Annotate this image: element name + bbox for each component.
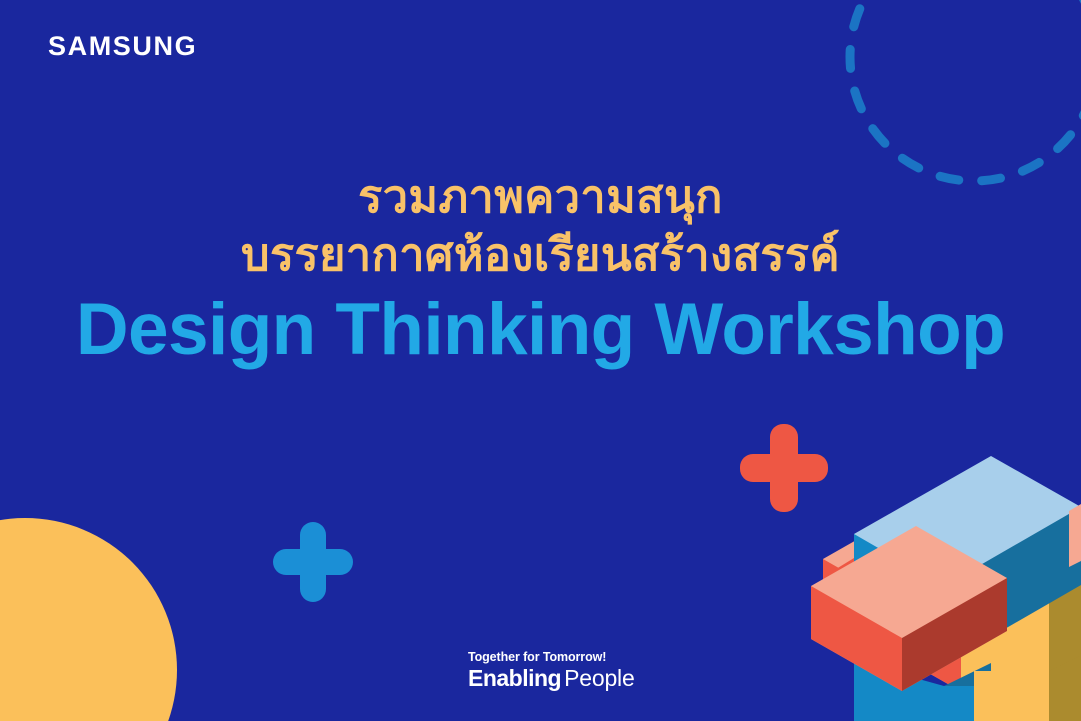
dashed-circle-decoration xyxy=(845,0,1081,186)
headline-group: รวมภาพความสนุก บรรยากาศห้องเรียนสร้างสรร… xyxy=(0,168,1081,369)
block-red-helper-2 xyxy=(823,524,969,623)
poster-canvas: SAMSUNG รวมภาพความสนุก บรรยากาศห้องเรียน… xyxy=(0,0,1081,721)
isometric-blocks-decoration xyxy=(811,431,1081,721)
block-red-front-left-face xyxy=(811,586,902,691)
tagline-together-for-tomorrow: Together for Tomorrow! xyxy=(468,650,635,664)
block-yellow-foot-left-face xyxy=(974,671,1049,721)
block-blue-foot-face xyxy=(931,686,974,721)
block-red-right-face xyxy=(969,589,1061,696)
tagline-enabling-word: Enabling xyxy=(468,665,561,691)
plus-red-vertical-bar xyxy=(770,424,798,512)
block-red-front-top-face xyxy=(811,526,1007,691)
block-red-outline-helper xyxy=(823,506,969,696)
block-blue-lower-right-face xyxy=(944,663,991,721)
block-yellow-top-face xyxy=(961,504,1081,653)
plus-red-horizontal-bar xyxy=(740,454,828,482)
plus-blue-horizontal-bar xyxy=(273,549,353,575)
footer-tagline-lockup: Together for Tomorrow! EnablingPeople xyxy=(468,650,635,692)
block-red-front-right-face xyxy=(902,578,1007,691)
headline-english-title: Design Thinking Workshop xyxy=(0,292,1081,369)
block-red-left-face xyxy=(823,559,969,696)
plus-blue-icon xyxy=(273,522,353,602)
tagline-enabling-people: EnablingPeople xyxy=(468,666,635,691)
tagline-people-word: People xyxy=(564,665,634,691)
yellow-circle-decoration xyxy=(0,518,177,721)
block-red-left-lip xyxy=(823,558,854,631)
headline-thai-line-1: รวมภาพความสนุก xyxy=(0,168,1081,226)
headline-thai-line-2: บรรยากาศห้องเรียนสร้างสรรค์ xyxy=(0,226,1081,284)
plus-blue-vertical-bar xyxy=(300,522,326,602)
block-blue-left-face xyxy=(854,534,944,664)
block-blue-lower-left-face xyxy=(854,661,944,721)
samsung-logo: SAMSUNG xyxy=(48,31,197,62)
block-red-top-face xyxy=(823,506,1061,696)
block-red-right-sliver xyxy=(1069,504,1081,567)
block-yellow-foot-right-face xyxy=(1049,631,1081,721)
plus-red-icon xyxy=(740,424,828,512)
block-blue-top-face xyxy=(854,456,1081,594)
block-blue-right-face xyxy=(944,507,1081,664)
block-yellow-right-face xyxy=(1049,555,1081,721)
block-yellow-left-face xyxy=(961,551,1049,721)
